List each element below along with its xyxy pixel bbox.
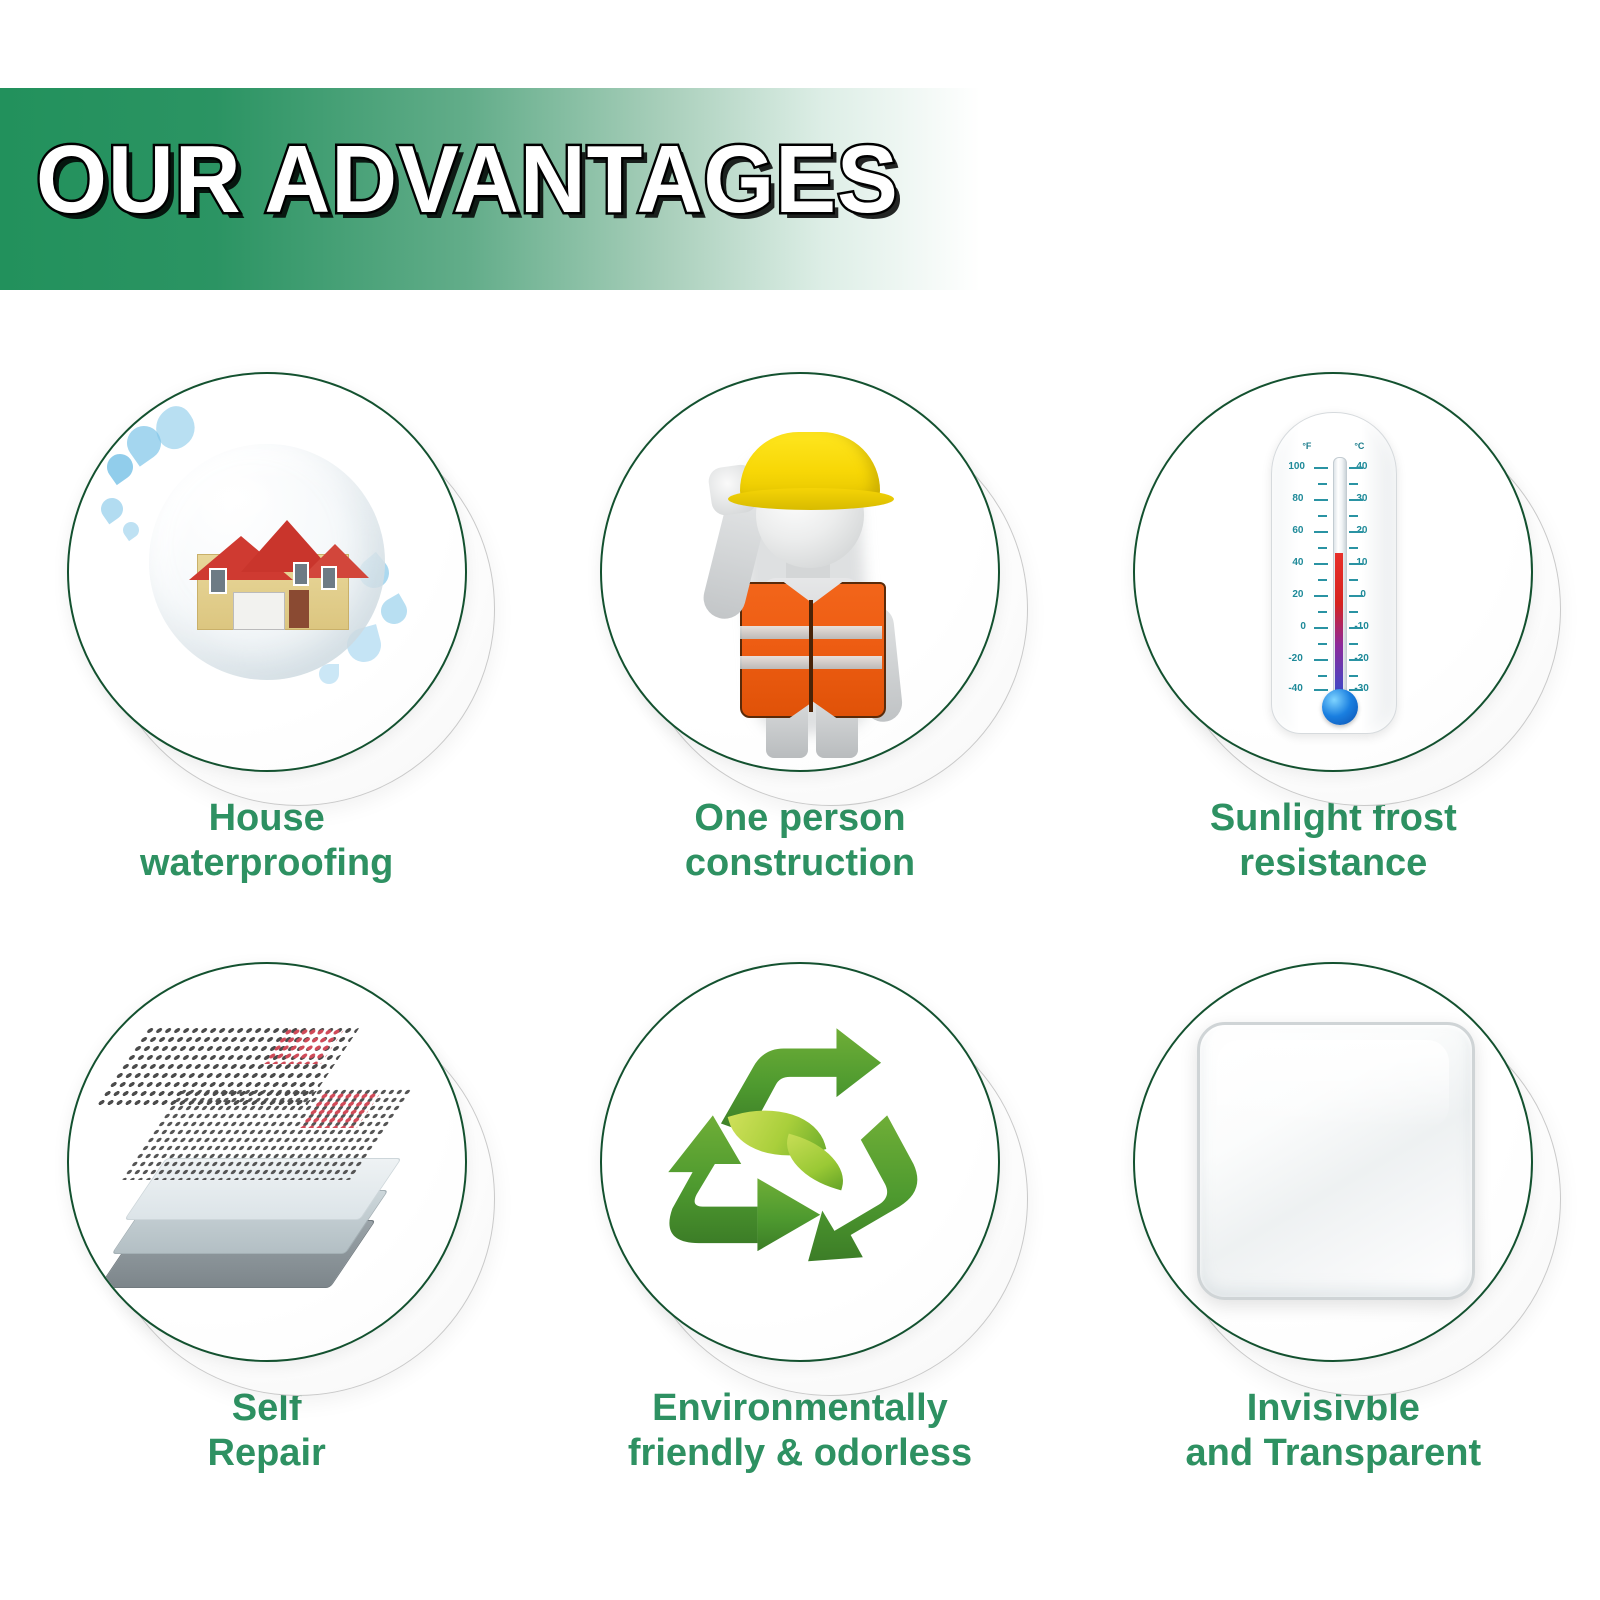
advantage-caption: Sunlight frost resistance bbox=[1210, 796, 1457, 886]
advantage-card-sunlight-frost-resistance[interactable]: °F °C 100 80 60 40 20 0 -20 -40 40 30 bbox=[1067, 350, 1600, 940]
circle-frame bbox=[67, 372, 467, 772]
circle-frame bbox=[1133, 962, 1533, 1362]
advantage-caption: House waterproofing bbox=[140, 796, 393, 886]
advantage-card-one-person-construction[interactable]: One person construction bbox=[533, 350, 1066, 940]
advantage-card-invisible-transparent[interactable]: Invisivble and Transparent bbox=[1067, 940, 1600, 1530]
advantage-card-self-repair[interactable]: Self Repair bbox=[0, 940, 533, 1530]
house-illustration bbox=[189, 514, 359, 632]
transparent-glass-square-icon bbox=[1163, 992, 1503, 1332]
circle-badge: °F °C 100 80 60 40 20 0 -20 -40 40 30 bbox=[1133, 372, 1533, 772]
circle-badge bbox=[600, 372, 1000, 772]
circle-frame bbox=[600, 962, 1000, 1362]
circle-frame bbox=[600, 372, 1000, 772]
advantage-caption: Invisivble and Transparent bbox=[1186, 1386, 1482, 1476]
celsius-unit-label: °C bbox=[1354, 441, 1364, 451]
circle-badge bbox=[600, 962, 1000, 1362]
advantages-grid: House waterproofing bbox=[0, 350, 1600, 1530]
advantage-caption: One person construction bbox=[685, 796, 915, 886]
circle-frame bbox=[67, 962, 467, 1362]
layered-membrane-icon bbox=[97, 992, 437, 1332]
house-in-water-bubble-icon bbox=[97, 402, 437, 742]
recycling-leaf-icon bbox=[630, 992, 970, 1332]
circle-badge bbox=[67, 962, 467, 1362]
circle-badge bbox=[67, 372, 467, 772]
fahrenheit-unit-label: °F bbox=[1302, 441, 1311, 451]
thermometer-icon: °F °C 100 80 60 40 20 0 -20 -40 40 30 bbox=[1163, 402, 1503, 742]
thermometer-bulb bbox=[1322, 689, 1358, 725]
advantage-caption: Environmentally friendly & odorless bbox=[628, 1386, 972, 1476]
page-title: OUR ADVANTAGES bbox=[36, 132, 1081, 228]
construction-worker-icon bbox=[630, 402, 970, 742]
mercury-column bbox=[1335, 553, 1343, 701]
glass-highlight bbox=[1217, 1040, 1449, 1128]
advantage-caption: Self Repair bbox=[208, 1386, 326, 1476]
advantage-card-environmentally-friendly[interactable]: Environmentally friendly & odorless bbox=[533, 940, 1066, 1530]
circle-badge bbox=[1133, 962, 1533, 1362]
circle-frame: °F °C 100 80 60 40 20 0 -20 -40 40 30 bbox=[1133, 372, 1533, 772]
advantage-card-house-waterproofing[interactable]: House waterproofing bbox=[0, 350, 533, 940]
